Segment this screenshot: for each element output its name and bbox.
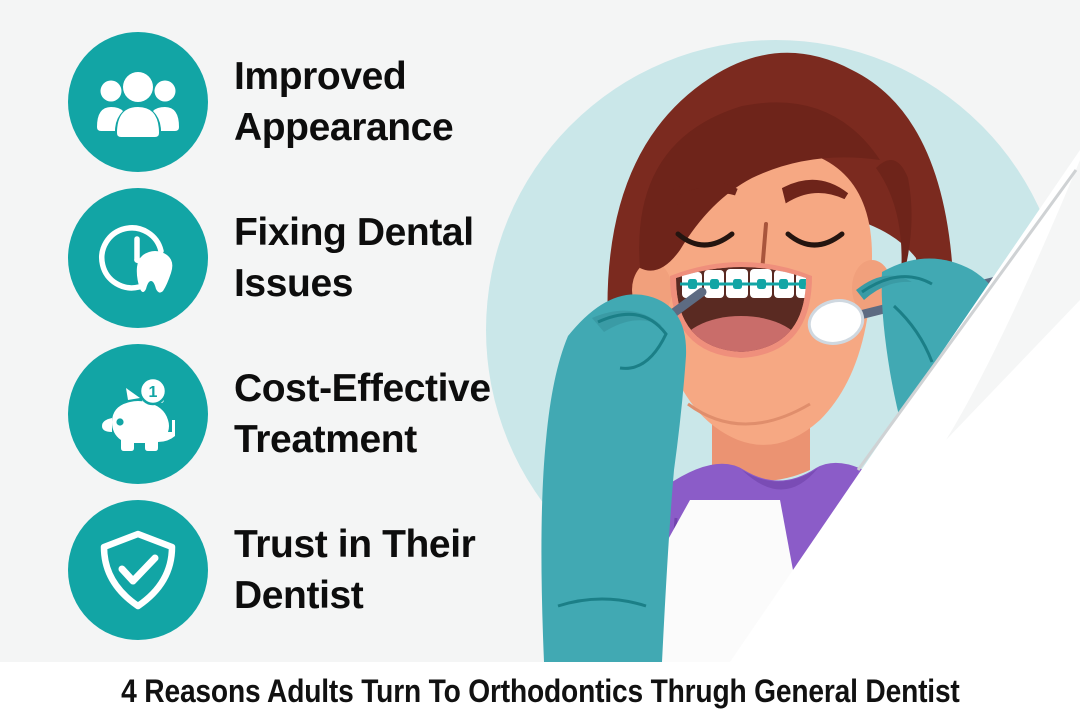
- clock-tooth-icon: [68, 188, 208, 328]
- coin-value: 1: [149, 384, 158, 401]
- benefit-item-fixing-dental-issues: Fixing Dental Issues: [68, 188, 474, 328]
- benefit-label: Trust in Their Dentist: [234, 519, 475, 621]
- glove-left: [541, 294, 686, 662]
- benefit-item-cost-effective-treatment: 1 Cost-Effective Treatment: [68, 344, 491, 484]
- benefit-item-trust-in-their-dentist: Trust in Their Dentist: [68, 500, 475, 640]
- caption-bar: 4 Reasons Adults Turn To Orthodontics Th…: [0, 662, 1080, 720]
- benefit-label: Improved Appearance: [234, 51, 453, 153]
- infographic-poster: Improved Appearance Fixing Dental Issues: [0, 0, 1080, 720]
- benefit-label: Cost-Effective Treatment: [234, 363, 491, 465]
- benefit-item-improved-appearance: Improved Appearance: [68, 32, 453, 172]
- benefits-list: Improved Appearance Fixing Dental Issues: [0, 0, 540, 662]
- benefit-label: Fixing Dental Issues: [234, 207, 474, 309]
- caption-title: 4 Reasons Adults Turn To Orthodontics Th…: [121, 673, 959, 710]
- shield-check-icon: [68, 500, 208, 640]
- piggy-bank-coin-icon: 1: [68, 344, 208, 484]
- dental-exam-illustration: [480, 0, 1080, 662]
- people-group-icon: [68, 32, 208, 172]
